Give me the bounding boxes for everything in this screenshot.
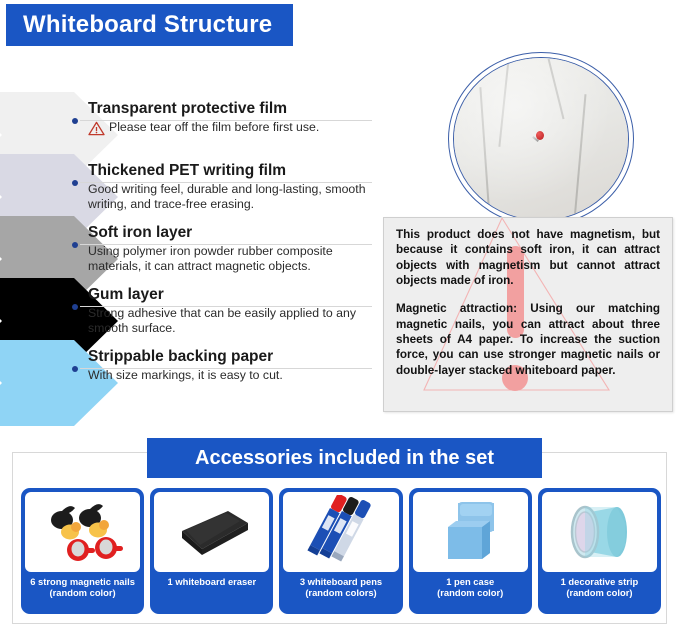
layer-item-thickened-pet-writing-film: Thickened PET writing film Good writing … [72, 162, 372, 224]
layer-title: Thickened PET writing film [72, 162, 372, 180]
warning-triangle-icon [88, 121, 105, 140]
pen-case-icon [432, 497, 508, 567]
layer-bullet [72, 118, 78, 124]
product-photo-circle [448, 52, 638, 230]
info-box-content: This product does not have magnetism, bu… [384, 218, 672, 378]
infographic-root: Whiteboard Structure Transparent protect… [0, 0, 679, 638]
decorative-tape-icon [555, 499, 643, 565]
layer-desc: Strong adhesive that can be easily appli… [72, 304, 372, 336]
accessory-label-line2: (random colors) [300, 587, 382, 598]
layer-divider [80, 244, 372, 245]
accessory-label-line2: (random color) [437, 587, 503, 598]
accessory-card-pen-case[interactable]: 1 pen case (random color) [409, 488, 532, 614]
layer-desc-row: Please tear off the film before first us… [72, 118, 372, 140]
layer-item-strippable-backing-paper: Strippable backing paper With size marki… [72, 348, 372, 398]
layer-title: Transparent protective film [72, 100, 372, 118]
layer-bullet [72, 242, 78, 248]
accessory-image [154, 492, 269, 572]
whiteboard-surface-photo [454, 58, 628, 220]
accessory-card-whiteboard-pens[interactable]: 3 whiteboard pens (random colors) [279, 488, 402, 614]
accessory-card-magnetic-nails[interactable]: 6 strong magnetic nails (random color) [21, 488, 144, 614]
accessory-label: 1 decorative strip (random color) [561, 572, 639, 599]
accessory-label: 1 pen case (random color) [437, 572, 503, 599]
page-title-banner: Whiteboard Structure [6, 4, 293, 46]
accessory-label-line1: 1 whiteboard eraser [168, 576, 257, 587]
magnetism-info-box: This product does not have magnetism, bu… [383, 217, 673, 412]
accessory-image [25, 492, 140, 572]
accessory-label-line1: 6 strong magnetic nails [30, 576, 135, 587]
layer-bullet [72, 304, 78, 310]
page-title: Whiteboard Structure [6, 11, 272, 39]
accessory-label-line2: (random color) [30, 587, 135, 598]
layer-divider [80, 306, 372, 307]
accessory-label: 3 whiteboard pens (random colors) [300, 572, 382, 599]
accessories-card-row: 6 strong magnetic nails (random color) 1… [21, 488, 661, 614]
whiteboard-eraser-icon [166, 501, 258, 563]
accessory-image [542, 492, 657, 572]
layer-desc: Using polymer iron powder rubber composi… [72, 242, 372, 274]
layer-item-gum-layer: Gum layer Strong adhesive that can be ea… [72, 286, 372, 348]
layer-item-soft-iron-layer: Soft iron layer Using polymer iron powde… [72, 224, 372, 286]
info-paragraph-2: Magnetic attraction: Using our matching … [396, 301, 660, 378]
magnetic-pin-icon [536, 131, 544, 140]
layer-desc: Good writing feel, durable and long-last… [72, 180, 372, 212]
info-paragraph-1: This product does not have magnetism, bu… [396, 227, 660, 288]
layer-divider [80, 120, 372, 121]
circle-inner-ring [453, 57, 629, 221]
accessory-label-line2: (random color) [561, 587, 639, 598]
accessory-image [283, 492, 398, 572]
accessory-label: 6 strong magnetic nails (random color) [30, 572, 135, 599]
layer-divider [80, 182, 372, 183]
accessory-label-line1: 3 whiteboard pens [300, 576, 382, 587]
layer-bullet [72, 180, 78, 186]
layer-bullet [72, 366, 78, 372]
layer-divider [80, 368, 372, 369]
accessory-label: 1 whiteboard eraser [168, 572, 257, 587]
accessories-title: Accessories included in the set [195, 447, 494, 470]
layer-description-list: Transparent protective film Please tear … [72, 100, 372, 398]
whiteboard-pens-icon [298, 495, 384, 569]
accessory-card-decorative-strip[interactable]: 1 decorative strip (random color) [538, 488, 661, 614]
accessory-image [413, 492, 528, 572]
accessory-card-whiteboard-eraser[interactable]: 1 whiteboard eraser [150, 488, 273, 614]
layer-title: Soft iron layer [72, 224, 372, 242]
layer-desc: Please tear off the film before first us… [109, 120, 319, 135]
accessory-label-line1: 1 pen case [446, 576, 494, 587]
layer-title: Gum layer [72, 286, 372, 304]
layer-item-transparent-protective-film: Transparent protective film Please tear … [72, 100, 372, 162]
accessories-title-banner: Accessories included in the set [147, 438, 542, 478]
magnetic-nails-icon [40, 496, 126, 568]
layer-title: Strippable backing paper [72, 348, 372, 366]
accessory-label-line1: 1 decorative strip [561, 576, 639, 587]
